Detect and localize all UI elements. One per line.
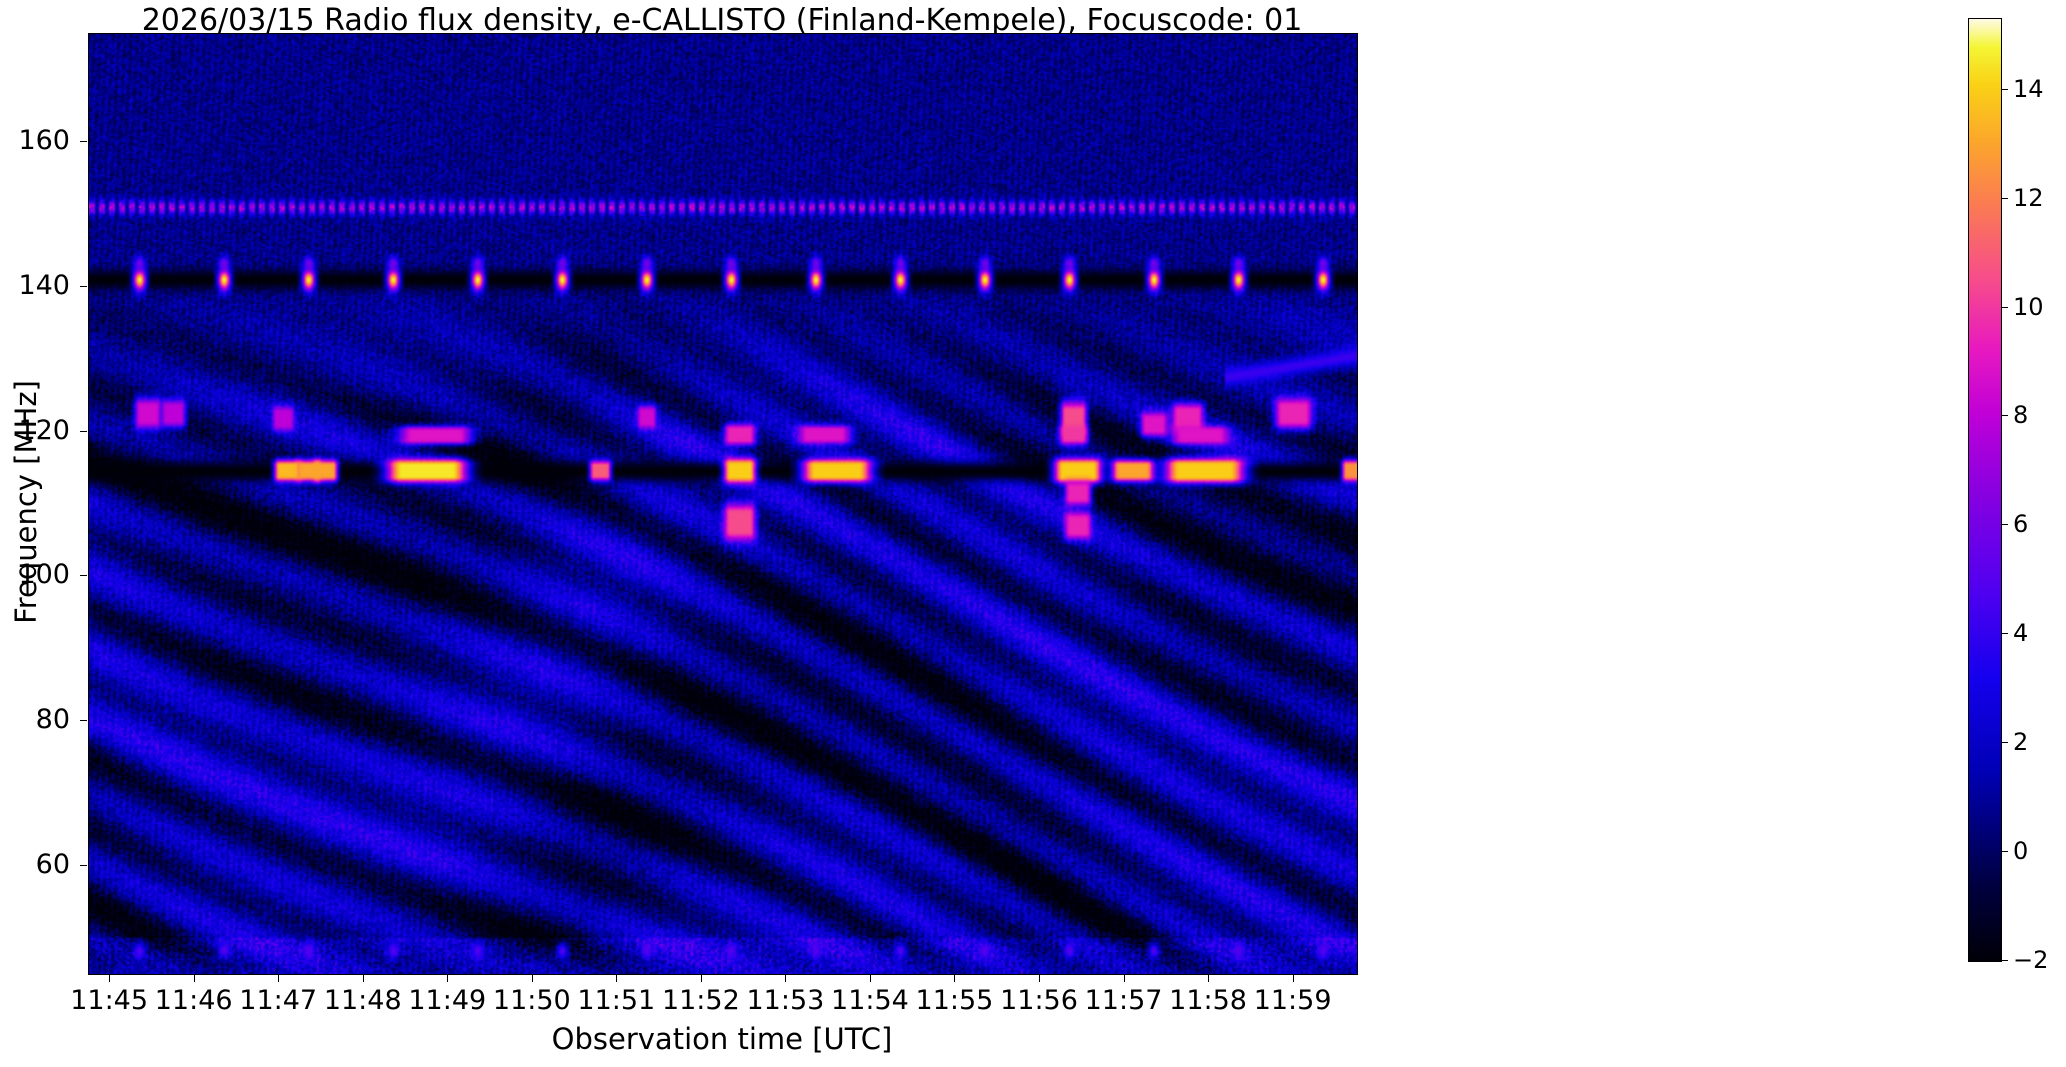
colorbar[interactable] xyxy=(1968,18,2002,962)
x-tick-mark xyxy=(1039,975,1040,982)
colorbar-tick-mark xyxy=(2002,415,2008,416)
x-tick-mark xyxy=(870,975,871,982)
colorbar-tick-label: 14 xyxy=(2013,77,2044,101)
colorbar-tick-label: 6 xyxy=(2013,512,2028,536)
x-tick-mark xyxy=(616,975,617,982)
x-tick-mark xyxy=(109,975,110,982)
x-tick-mark xyxy=(1124,975,1125,982)
x-tick-mark xyxy=(1208,975,1209,982)
x-tick-label: 11:59 xyxy=(1223,987,1363,1014)
y-tick-mark xyxy=(80,141,87,142)
colorbar-tick-mark xyxy=(2002,524,2008,525)
y-axis-label: Frequency [MHz] xyxy=(9,192,43,812)
x-tick-mark xyxy=(194,975,195,982)
colorbar-tick-label: 0 xyxy=(2013,839,2028,863)
x-tick-mark xyxy=(532,975,533,982)
y-tick-mark xyxy=(80,865,87,866)
colorbar-tick-label: −2 xyxy=(2013,948,2048,972)
colorbar-tick-label: 2 xyxy=(2013,730,2028,754)
figure-canvas: 2026/03/15 Radio flux density, e-CALLIST… xyxy=(0,0,2066,1067)
y-tick-mark xyxy=(80,575,87,576)
colorbar-tick-label: 8 xyxy=(2013,403,2028,427)
colorbar-tick-mark xyxy=(2002,851,2008,852)
colorbar-tick-label: 10 xyxy=(2013,295,2044,319)
y-tick-mark xyxy=(80,431,87,432)
y-tick-label: 60 xyxy=(0,851,70,878)
y-tick-mark xyxy=(80,720,87,721)
y-tick-label: 160 xyxy=(0,127,70,154)
colorbar-gradient xyxy=(1969,19,2001,961)
colorbar-tick-mark xyxy=(2002,89,2008,90)
x-tick-mark xyxy=(954,975,955,982)
x-tick-mark xyxy=(278,975,279,982)
spectrogram-image[interactable] xyxy=(89,34,1357,974)
x-tick-mark xyxy=(701,975,702,982)
colorbar-tick-label: 12 xyxy=(2013,186,2044,210)
y-tick-mark xyxy=(80,286,87,287)
colorbar-tick-mark xyxy=(2002,960,2008,961)
colorbar-tick-mark xyxy=(2002,742,2008,743)
colorbar-tick-label: 4 xyxy=(2013,621,2028,645)
x-tick-mark xyxy=(447,975,448,982)
colorbar-tick-mark xyxy=(2002,198,2008,199)
colorbar-tick-mark xyxy=(2002,633,2008,634)
x-tick-mark xyxy=(1293,975,1294,982)
x-tick-mark xyxy=(785,975,786,982)
x-axis-label: Observation time [UTC] xyxy=(88,1022,1356,1056)
x-tick-mark xyxy=(363,975,364,982)
colorbar-tick-mark xyxy=(2002,307,2008,308)
spectrogram-axes[interactable] xyxy=(88,33,1358,975)
